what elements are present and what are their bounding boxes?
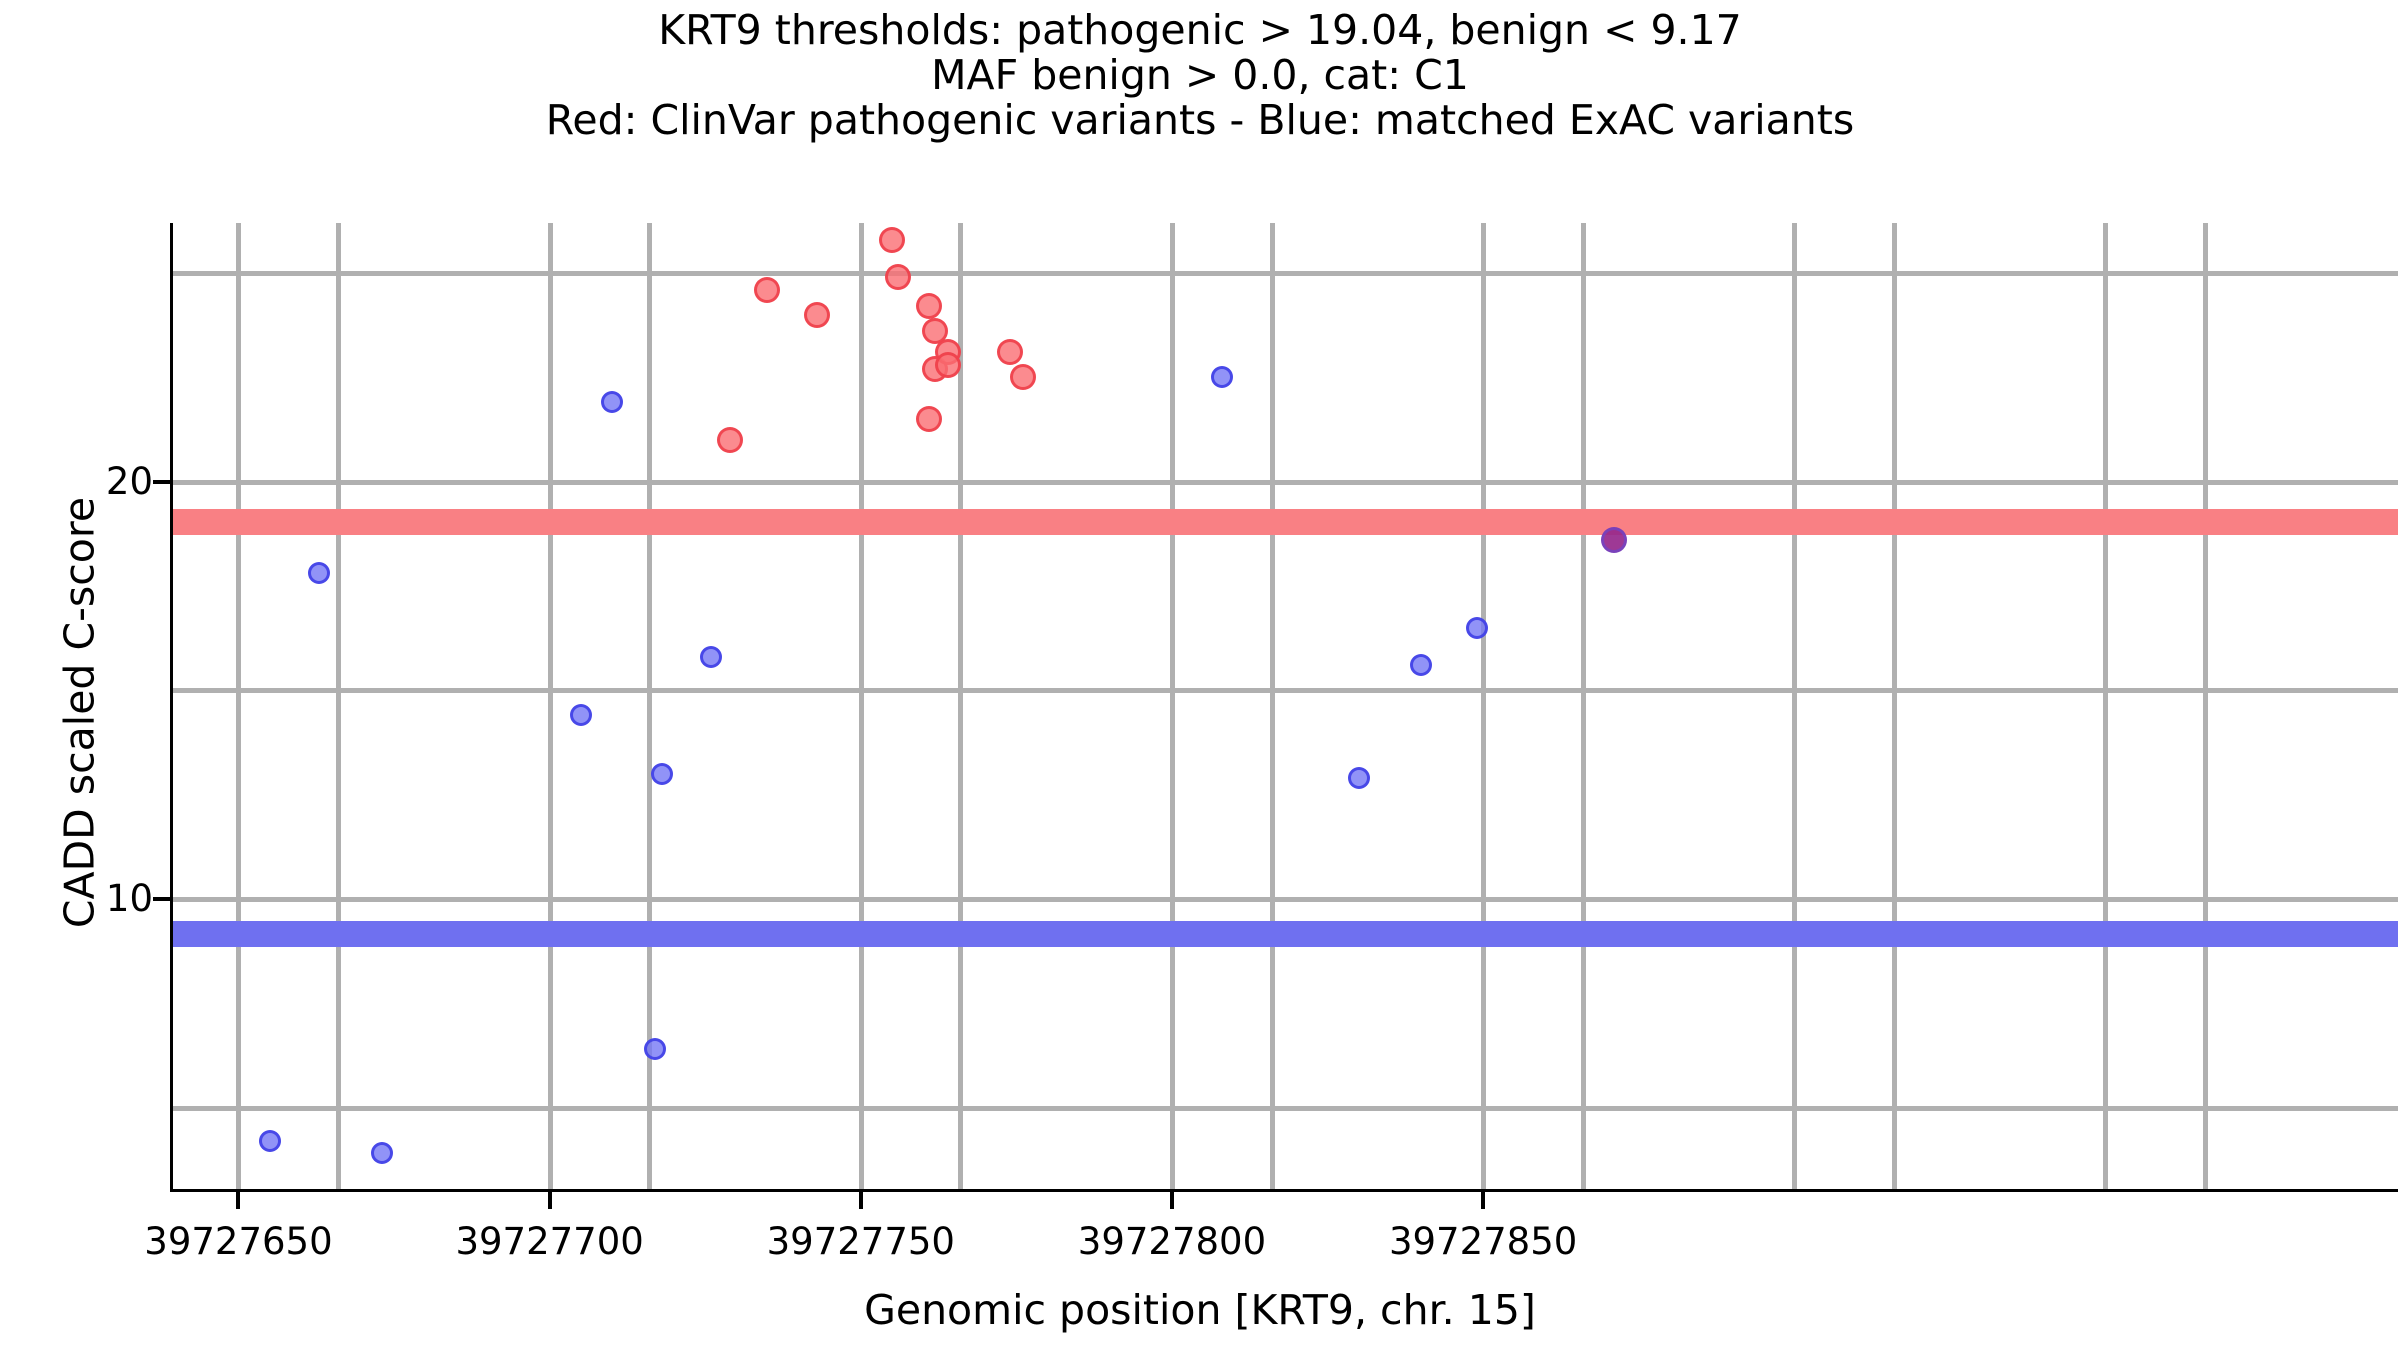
data-point-exac[interactable]: [1466, 617, 1488, 639]
gridline-vertical: [1170, 223, 1175, 1191]
data-point-exac[interactable]: [1410, 654, 1432, 676]
y-tick-label: 20: [106, 463, 153, 500]
data-point-clinvar[interactable]: [935, 352, 961, 378]
gridline-horizontal: [170, 480, 2398, 485]
x-tick-mark: [1170, 1192, 1174, 1209]
gridline-vertical: [236, 223, 241, 1191]
data-point-exac[interactable]: [1348, 767, 1370, 789]
gridline-horizontal: [170, 897, 2398, 902]
gridline-horizontal: [170, 688, 2398, 693]
x-tick-label: 39727800: [1078, 1222, 1266, 1262]
x-tick-label: 39727650: [144, 1222, 332, 1262]
y-tick-label: 10: [106, 880, 153, 917]
data-point-exac[interactable]: [259, 1130, 281, 1152]
data-point-clinvar[interactable]: [754, 277, 780, 303]
y-tick-mark: [153, 480, 170, 484]
data-point-exac[interactable]: [644, 1038, 666, 1060]
x-tick-mark: [859, 1192, 863, 1209]
data-point-clinvar[interactable]: [879, 227, 905, 253]
y-axis-title: CADD scaled C-score: [58, 229, 103, 1197]
gridline-vertical: [336, 223, 341, 1191]
x-axis-title: Genomic position [KRT9, chr. 15]: [0, 1288, 2400, 1333]
data-point-exac[interactable]: [371, 1142, 393, 1164]
gridline-vertical: [548, 223, 553, 1191]
x-tick-label: 39727750: [767, 1222, 955, 1262]
x-axis-spine: [170, 1189, 2398, 1192]
x-tick-label: 39727850: [1389, 1222, 1577, 1262]
gridline-vertical: [1581, 223, 1586, 1191]
data-point-clinvar[interactable]: [804, 302, 830, 328]
chart-title-line-3: Red: ClinVar pathogenic variants - Blue:…: [0, 98, 2400, 143]
data-point-overlap[interactable]: [1601, 527, 1627, 553]
gridline-vertical: [1270, 223, 1275, 1191]
data-point-exac[interactable]: [308, 562, 330, 584]
data-point-clinvar[interactable]: [997, 339, 1023, 365]
gridline-horizontal: [170, 271, 2398, 276]
gridline-vertical: [1892, 223, 1897, 1191]
gridline-vertical: [859, 223, 864, 1191]
pathogenic-threshold-band: [170, 509, 2398, 535]
benign-threshold-band: [170, 921, 2398, 947]
chart-title: KRT9 thresholds: pathogenic > 19.04, ben…: [0, 8, 2400, 143]
y-axis-spine: [170, 223, 173, 1191]
gridline-vertical: [2103, 223, 2108, 1191]
data-point-clinvar[interactable]: [1010, 364, 1036, 390]
data-point-clinvar[interactable]: [916, 293, 942, 319]
x-tick-mark: [548, 1192, 552, 1209]
data-point-exac[interactable]: [700, 646, 722, 668]
gridline-vertical: [1792, 223, 1797, 1191]
plot-area: [170, 223, 2398, 1191]
gridline-horizontal: [170, 1106, 2398, 1111]
data-point-clinvar[interactable]: [717, 427, 743, 453]
x-tick-mark: [236, 1192, 240, 1209]
data-point-exac[interactable]: [570, 704, 592, 726]
data-point-exac[interactable]: [601, 391, 623, 413]
y-tick-mark: [153, 897, 170, 901]
cadd-scatter-figure: KRT9 thresholds: pathogenic > 19.04, ben…: [0, 0, 2400, 1350]
data-point-exac[interactable]: [1211, 366, 1233, 388]
data-point-exac[interactable]: [651, 763, 673, 785]
gridline-vertical: [2203, 223, 2208, 1191]
chart-title-line-1: KRT9 thresholds: pathogenic > 19.04, ben…: [0, 8, 2400, 53]
x-tick-label: 39727700: [455, 1222, 643, 1262]
data-point-clinvar[interactable]: [916, 406, 942, 432]
gridline-vertical: [1481, 223, 1486, 1191]
data-point-clinvar[interactable]: [885, 264, 911, 290]
x-tick-mark: [1481, 1192, 1485, 1209]
chart-title-line-2: MAF benign > 0.0, cat: C1: [0, 53, 2400, 98]
